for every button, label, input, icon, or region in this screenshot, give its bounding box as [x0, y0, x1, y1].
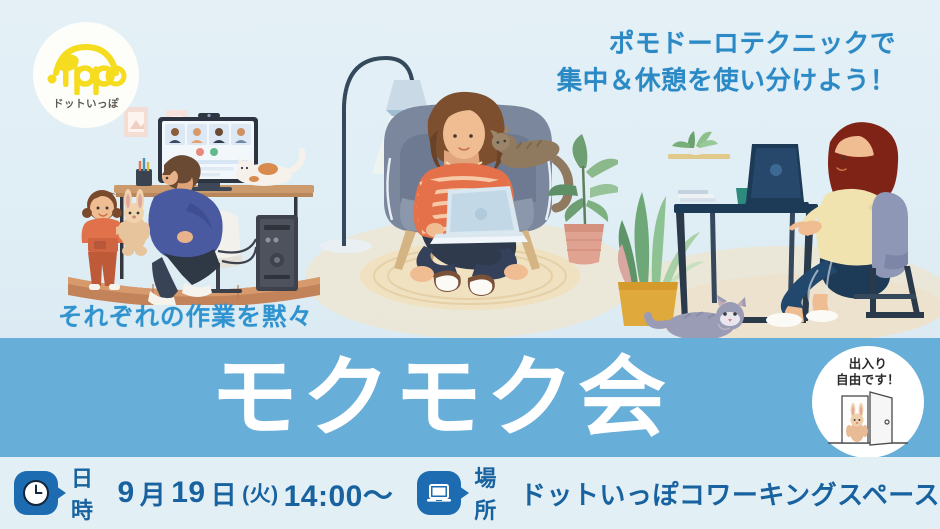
- date-time: 14:00〜: [284, 471, 394, 515]
- free-entry-badge: 出入り 自由です！: [812, 346, 924, 458]
- tagline-line-2: 集中＆休憩を使い分けよう！: [557, 63, 896, 100]
- date-month: 9: [118, 476, 135, 510]
- door-with-rabbit-icon: [826, 390, 910, 448]
- tagline-line-1: ポモドーロテクニックで: [557, 26, 896, 63]
- tagline-top-right: ポモドーロテクニックで 集中＆休憩を使い分けよう！: [557, 26, 896, 100]
- page-title: モクモク会: [0, 338, 940, 457]
- info-bar: 日時 9 月 19 日 (火) 14:00〜 場所 ドットいっぽコワーキングスペ…: [0, 457, 940, 529]
- date-day-unit: 日: [211, 475, 238, 512]
- tagline-bottom-left: それぞれの作業を黙々: [58, 298, 313, 333]
- ippo-wordmark-icon: [44, 43, 128, 95]
- date-weekday: (火): [242, 478, 279, 508]
- date-label: 日時: [71, 461, 113, 525]
- place-value: ドットいっぽコワーキングスペース: [520, 475, 940, 512]
- info-item-date: 日時 9 月 19 日 (火) 14:00〜: [14, 461, 393, 525]
- free-entry-line-2: 自由です！: [836, 373, 900, 387]
- logo-subtitle: ドットいっぽ: [53, 96, 119, 111]
- laptop-icon: [417, 471, 461, 515]
- event-banner: ドットいっぽ ポモドーロテクニックで 集中＆休憩を使い分けよう！ それぞれの作業…: [0, 0, 940, 529]
- place-label: 場所: [474, 461, 515, 525]
- clock-icon: [14, 471, 58, 515]
- logo: ドットいっぽ: [33, 22, 139, 128]
- free-entry-badge-text: 出入り 自由です！: [812, 357, 924, 388]
- date-day: 19: [171, 476, 205, 510]
- illustration-right-scene: [618, 108, 940, 340]
- illustration-left-scene: [58, 105, 330, 305]
- free-entry-line-1: 出入り: [849, 357, 887, 371]
- date-month-unit: 月: [140, 475, 167, 512]
- info-item-place: 場所 ドットいっぽコワーキングスペース: [417, 461, 940, 525]
